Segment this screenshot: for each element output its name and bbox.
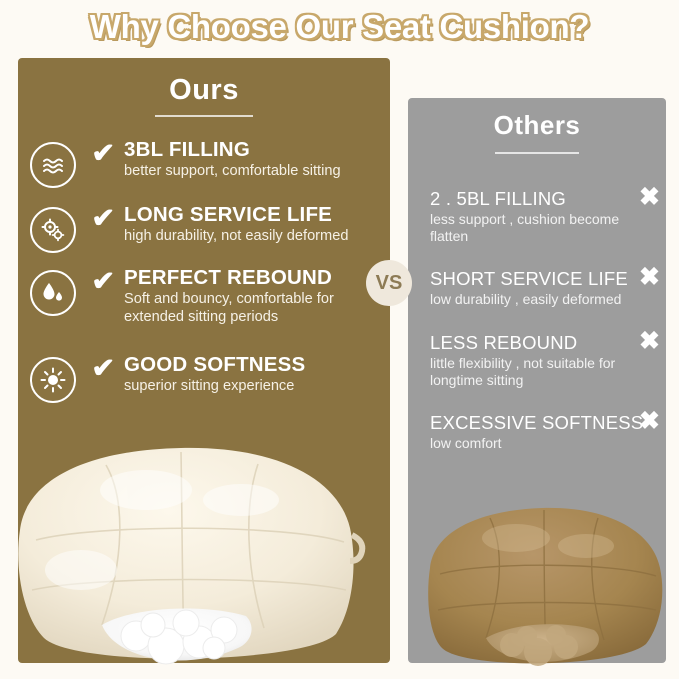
others-heading: Others — [408, 110, 666, 141]
others-cushion-image — [420, 490, 670, 670]
check-icon-2: ✔ — [91, 205, 115, 232]
others-feature-1-title: 2 . 5BL FILLING — [430, 188, 566, 210]
gears-icon — [30, 207, 76, 253]
others-feature-3-title: LESS REBOUND — [430, 332, 577, 354]
ours-feature-4-subtitle: superior sitting experience — [124, 377, 386, 395]
page-title: Why Choose Our Seat Cushion? — [0, 8, 679, 46]
others-feature-3-subtitle: little flexibility , not suitable for lo… — [430, 355, 642, 389]
others-heading-divider — [495, 152, 579, 154]
sun-burst-icon — [30, 357, 76, 403]
x-icon-3: ✖ — [639, 329, 660, 354]
others-feature-4-subtitle: low comfort — [430, 435, 642, 452]
ours-feature-2-subtitle: high durability, not easily deformed — [124, 227, 386, 245]
ours-feature-3-subtitle: Soft and bouncy, comfortable for extende… — [124, 290, 386, 326]
x-icon-1: ✖ — [639, 185, 660, 210]
ours-feature-3-title: PERFECT REBOUND — [124, 266, 332, 290]
others-feature-4-title: EXCESSIVE SOFTNESS — [430, 412, 643, 434]
check-icon-3: ✔ — [91, 268, 115, 295]
ours-feature-2-title: LONG SERVICE LIFE — [124, 203, 332, 227]
ours-feature-1-title: 3BL FILLING — [124, 138, 250, 162]
ours-cushion-image — [6, 420, 378, 670]
water-waves-icon — [30, 142, 76, 188]
ours-heading-divider — [155, 115, 253, 117]
x-icon-4: ✖ — [639, 409, 660, 434]
others-feature-2-subtitle: low durability , easily deformed — [430, 291, 642, 308]
vs-badge: VS — [366, 260, 412, 306]
ours-heading: Ours — [18, 74, 390, 107]
others-feature-2-title: SHORT SERVICE LIFE — [430, 268, 628, 290]
others-feature-1-subtitle: less support , cushion become flatten — [430, 211, 642, 245]
check-icon-4: ✔ — [91, 355, 115, 382]
water-drop-icon — [30, 270, 76, 316]
x-icon-2: ✖ — [639, 265, 660, 290]
check-icon-1: ✔ — [91, 140, 115, 167]
ours-feature-1-subtitle: better support, comfortable sitting — [124, 162, 386, 180]
ours-feature-4-title: GOOD SOFTNESS — [124, 353, 305, 377]
